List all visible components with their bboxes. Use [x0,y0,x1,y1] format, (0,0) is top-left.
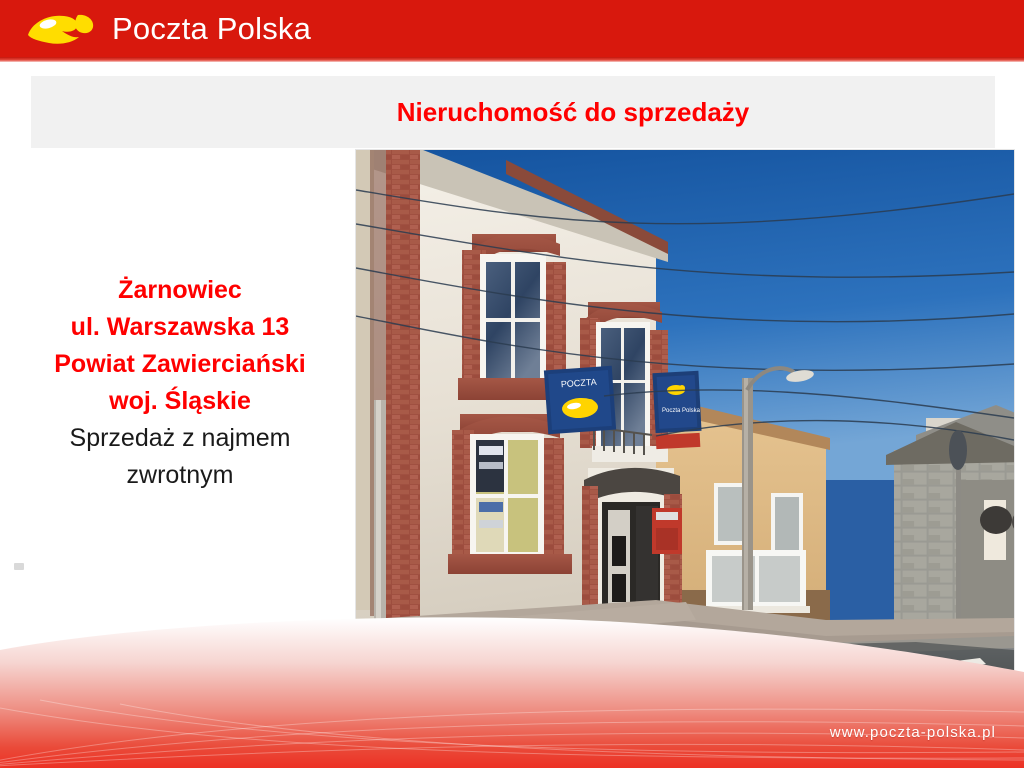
slide: Poczta Polska Nieruchomość do sprzedaży … [0,0,1024,768]
info-line-sale-type-2: zwrotnym [24,457,336,494]
info-line-sale-type-1: Sprzedaż z najmem [24,420,336,457]
stray-mark [14,563,24,570]
svg-text:Poczta Polska: Poczta Polska [662,408,701,414]
page-title: Nieruchomość do sprzedaży [91,76,1024,148]
info-line-voivodeship: woj. Śląskie [24,383,336,420]
brand-logo-area: Poczta Polska [22,6,311,52]
footer-website-url: www.poczta-polska.pl [830,724,996,741]
info-line-street: ul. Warszawska 13 [24,309,336,346]
info-line-city: Żarnowiec [24,272,336,309]
property-info-block: Żarnowiec ul. Warszawska 13 Powiat Zawie… [24,272,336,494]
property-photograph: POCZTA Poczta Polska [356,150,1014,682]
title-box: Nieruchomość do sprzedaży [31,76,995,148]
info-line-county: Powiat Zawierciański [24,346,336,383]
postal-horn-icon [22,9,100,49]
brand-name: Poczta Polska [112,9,311,49]
header-band-shadow [0,57,1024,62]
